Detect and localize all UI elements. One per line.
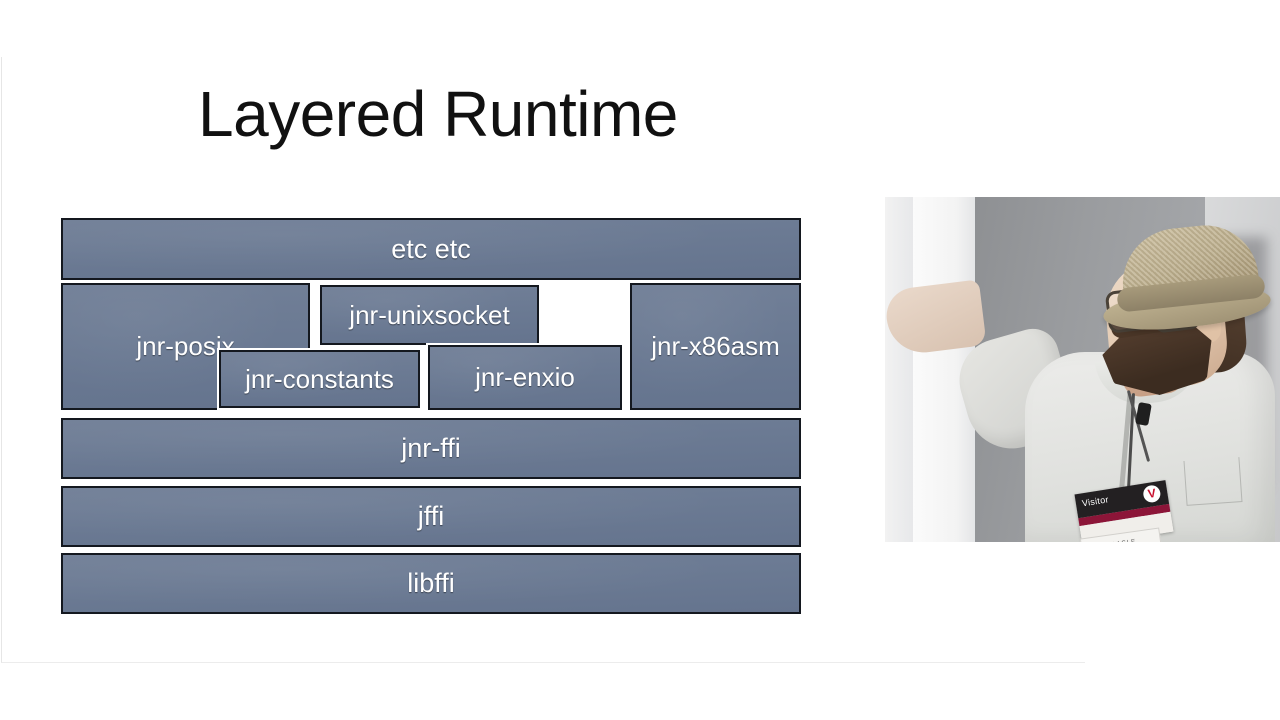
diagram-box-etc-etc: etc etc: [61, 218, 801, 280]
diagram-box-jnr-enxio: jnr-enxio: [428, 345, 622, 410]
video-background-wall-left: [885, 197, 913, 542]
slide-canvas: Layered Runtime etc etcjnr-posixjnr-unix…: [0, 0, 1280, 720]
badge-label: Visitor: [1081, 494, 1109, 508]
diagram-box-jnr-unixsocket: jnr-unixsocket: [320, 285, 539, 345]
diagram-box-jnr-x86asm: jnr-x86asm: [630, 283, 801, 410]
diagram-box-jnr-ffi: jnr-ffi: [61, 418, 801, 479]
presenter-shirt-pocket: [1183, 457, 1242, 506]
diagram-box-jnr-constants: jnr-constants: [219, 350, 420, 408]
presenter-video-overlay[interactable]: Visitor V ORACLE: [885, 197, 1280, 542]
diagram-box-libffi: libffi: [61, 553, 801, 614]
diagram-box-jffi: jffi: [61, 486, 801, 547]
badge-logo-icon: V: [1142, 484, 1161, 503]
